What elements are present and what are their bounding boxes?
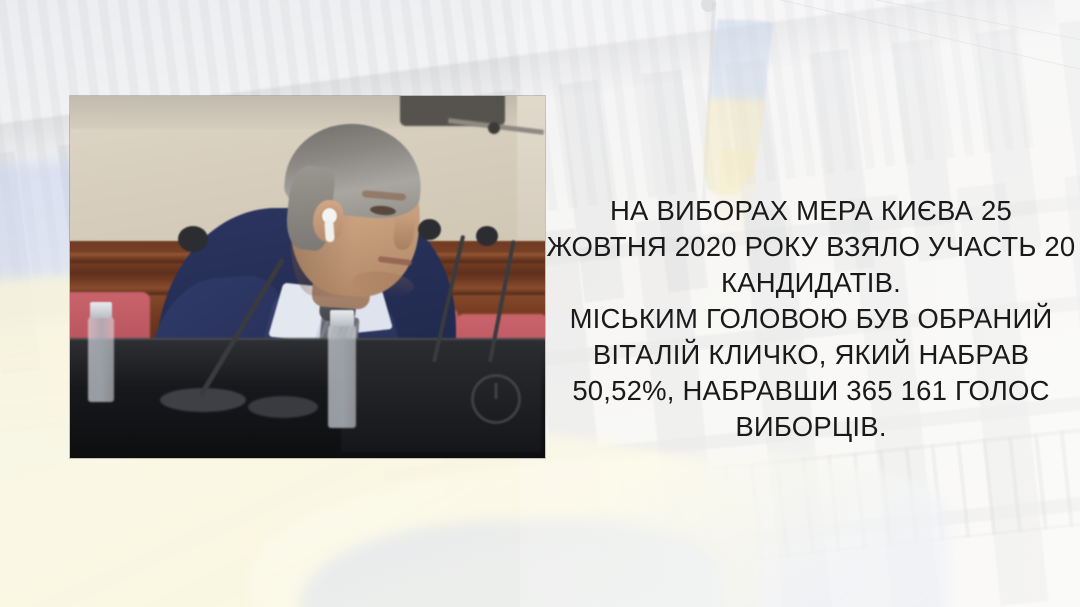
- water-bottle: [328, 324, 356, 428]
- earbud-stem-icon: [324, 220, 335, 243]
- ceiling-fixture-knob: [488, 122, 500, 134]
- slide-canvas: НА ВИБОРАХ МЕРА КИЄВА 25 ЖОВТНЯ 2020 РОК…: [0, 0, 1080, 607]
- microphone-icon: [418, 219, 441, 240]
- water-bottle-cap: [330, 310, 354, 326]
- inset-photo-klitschko: [70, 96, 545, 458]
- water-bottle: [88, 316, 114, 402]
- water-bottle-cap: [90, 302, 112, 318]
- microphone-icon: [476, 226, 498, 246]
- microphone-icon: [178, 226, 208, 252]
- microphone-base: [248, 396, 318, 418]
- monitor-logo-icon: [471, 374, 521, 424]
- slide-body-text: НА ВИБОРАХ МЕРА КИЄВА 25 ЖОВТНЯ 2020 РОК…: [546, 193, 1076, 445]
